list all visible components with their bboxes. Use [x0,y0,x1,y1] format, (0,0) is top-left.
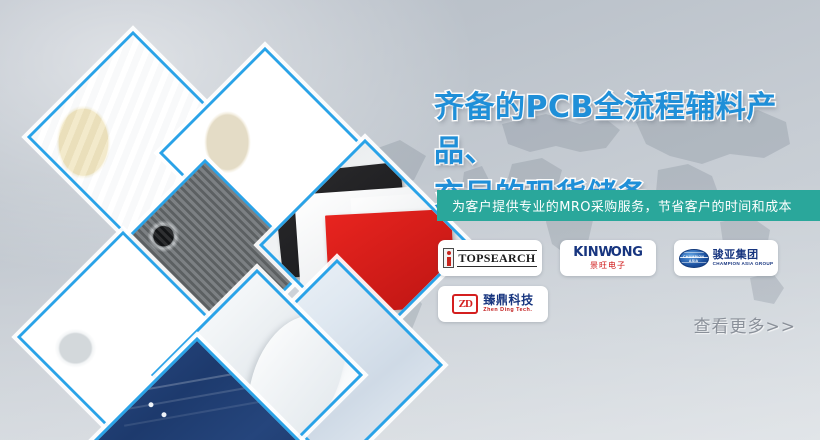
banner-subtitle-text: 为客户提供专业的MRO采购服务，节省客户的时间和成本 [437,196,792,215]
partner-logo-topsearch[interactable]: TOPSEARCH [438,240,542,276]
kinwong-chinese: 景旺电子 [573,262,643,270]
partner-logo-kinwong[interactable]: KINWONG 景旺电子 [560,240,656,276]
kinwong-part2: ONG [611,245,643,260]
partner-logo-champion-asia[interactable]: CHAMPION ASIA 骏亚集团 CHAMPION ASIA GROUP [674,240,778,276]
kinwong-part1: KIN [573,245,598,260]
kinwong-w-mark: W [598,245,610,260]
globe-label: CHAMPION ASIA [680,255,708,263]
globe-icon: CHAMPION ASIA [679,249,709,268]
banner-subtitle-bar: 为客户提供专业的MRO采购服务，节省客户的时间和成本 [437,190,820,221]
topsearch-wordmark: TOPSEARCH [457,250,536,267]
book-icon [443,248,454,268]
kinwong-wordmark: KINWONG [573,246,643,259]
zhen-ding-latin: Zhen Ding Tech. [483,308,533,313]
banner-content: 齐备的PCB全流程辅料产品、 充足的现货储备 为客户提供专业的MRO采购服务，节… [420,0,820,440]
promo-banner: JIE 齐备的PCB全流程辅料产品、 充足的现货储备 为客户提供专业的MRO采购… [0,0,820,440]
partner-logo-zhen-ding[interactable]: ZD 臻鼎科技 Zhen Ding Tech. [438,286,548,322]
zhen-ding-chinese: 臻鼎科技 [483,294,533,306]
champion-asia-latin: CHAMPION ASIA GROUP [713,262,774,267]
partner-logo-row-1: TOPSEARCH KINWONG 景旺电子 CHAMPION ASIA [438,240,810,276]
product-collage: JIE [0,0,430,440]
champion-asia-chinese: 骏亚集团 [713,249,774,260]
blue-material-dots [136,392,216,432]
square-monogram-icon: ZD [452,294,478,314]
view-more-link[interactable]: 查看更多>> [694,312,797,337]
